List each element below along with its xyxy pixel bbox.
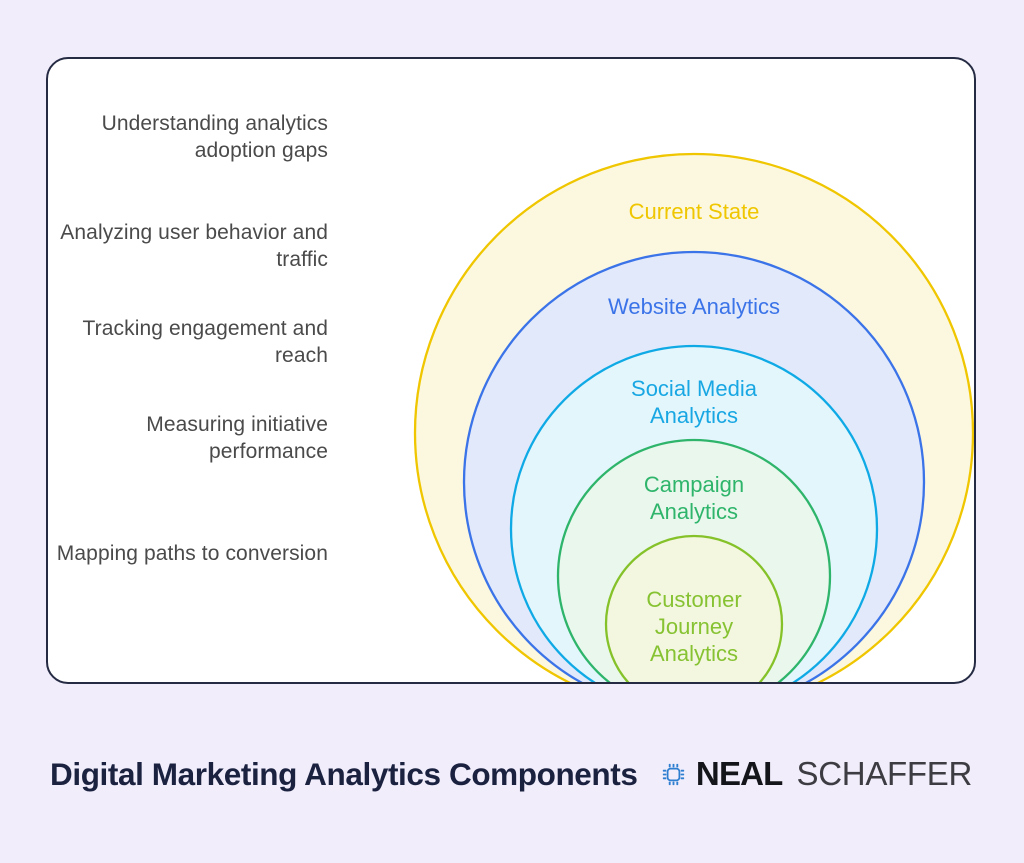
brand-name-secondary: SCHAFFER (797, 755, 972, 793)
footer: Digital Marketing Analytics Components (0, 684, 1024, 863)
brand-logo: NEAL SCHAFFER (660, 754, 972, 794)
brand-name-primary: NEAL (696, 755, 783, 793)
description-label-3: Measuring initiative performance (48, 412, 328, 465)
page-title: Digital Marketing Analytics Components (50, 756, 637, 793)
description-label-list: Understanding analytics adoption gaps An… (48, 59, 338, 684)
nested-circles-diagram: Current State Website Analytics Social M… (338, 59, 976, 684)
description-label-2: Tracking engagement and reach (48, 316, 328, 369)
chip-icon (660, 761, 687, 788)
description-label-0: Understanding analytics adoption gaps (48, 111, 328, 164)
diagram-card: Understanding analytics adoption gaps An… (46, 57, 976, 684)
diagram-stage: Understanding analytics adoption gaps An… (0, 0, 1024, 863)
description-label-4: Mapping paths to conversion (48, 541, 328, 568)
description-label-1: Analyzing user behavior and traffic (48, 220, 328, 273)
nested-circles-svg (338, 59, 976, 684)
